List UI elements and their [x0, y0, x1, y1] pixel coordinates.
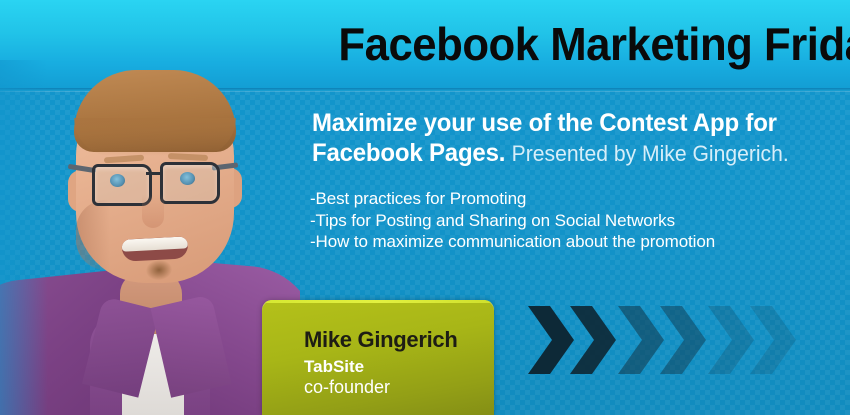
nose — [142, 194, 164, 228]
bullet-list: -Best practices for Promoting -Tips for … — [310, 188, 715, 253]
chevron-right-icon — [708, 306, 754, 374]
speaker-company: TabSite — [304, 357, 364, 376]
chevron-arrows-graphic — [528, 306, 828, 374]
speaker-role: co-founder — [304, 377, 390, 397]
card-top-highlight — [262, 300, 494, 303]
chevron-right-icon — [570, 306, 616, 374]
chevron-right-icon — [528, 306, 574, 374]
speaker-name: Mike Gingerich — [304, 328, 458, 352]
facebook-marketing-friday-banner: Facebook Marketing Friday Maximize your … — [0, 0, 850, 415]
page-title: Facebook Marketing Friday — [338, 17, 840, 71]
speaker-name-card: Mike Gingerich TabSite co-founder — [262, 300, 494, 415]
chevron-right-icon — [660, 306, 706, 374]
glasses-bridge — [146, 172, 162, 175]
bullet-item: -Best practices for Promoting — [310, 188, 715, 210]
bullet-item: -How to maximize communication about the… — [310, 231, 715, 253]
subtitle-line-1: Maximize your use of the Contest App for — [312, 108, 821, 138]
speaker-photo — [0, 60, 300, 415]
subtitle-block: Maximize your use of the Contest App for… — [312, 108, 842, 169]
teeth — [121, 236, 188, 251]
chevron-right-icon — [750, 306, 796, 374]
hairline-fade — [74, 118, 236, 156]
subtitle-line-2-bold: Facebook Pages. — [312, 139, 505, 167]
mouth — [121, 236, 188, 261]
subtitle-line-2: Facebook Pages. Presented by Mike Ginger… — [312, 138, 821, 169]
bullet-item: -Tips for Posting and Sharing on Social … — [310, 210, 715, 232]
presenter-credit: Presented by Mike Gingerich. — [512, 141, 789, 166]
glasses-lens-right — [160, 162, 220, 204]
chevron-right-icon — [618, 306, 664, 374]
